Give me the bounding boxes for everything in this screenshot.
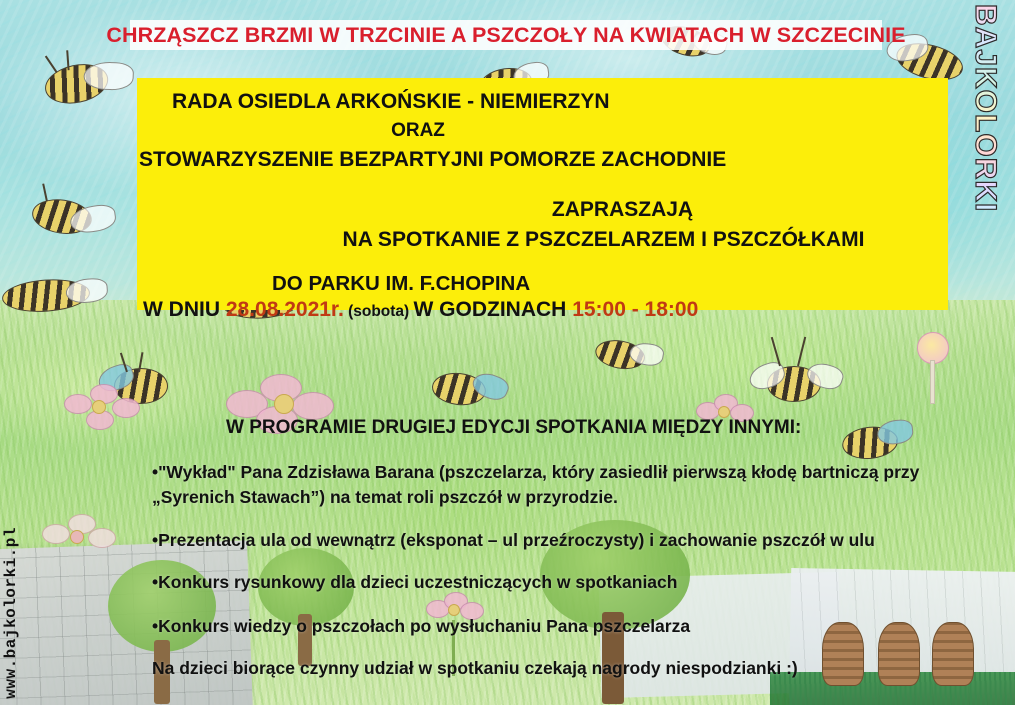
event-time: 15:00 - 18:00 [572, 298, 698, 321]
invitation-verb: ZAPRASZAJĄ [137, 198, 948, 222]
program-list-item: •"Wykład" Pana Zdzisława Barana (pszczel… [152, 460, 942, 510]
program-list-item: •Konkurs rysunkowy dla dzieci uczestnicz… [152, 570, 942, 595]
poster-canvas: CHRZĄSZCZ BRZMI W TRZCINIE A PSZCZOŁY NA… [0, 0, 1015, 705]
organizer-primary: RADA OSIEDLA ARKOŃSKIE - NIEMIERZYN [172, 90, 610, 114]
organizer-conjunction: ORAZ [137, 120, 699, 142]
brand-logo-bajkolorki: BAJKOLORKI [957, 4, 1013, 194]
program-list-item: •Prezentacja ula od wewnątrz (eksponat –… [152, 528, 942, 553]
program-heading: W PROGRAMIE DRUGIEJ EDYCJI SPOTKANIA MIĘ… [226, 417, 801, 439]
program-closing-note: Na dzieci biorące czynny udział w spotka… [152, 656, 942, 681]
event-weekday: (sobota) [344, 303, 414, 320]
brand-website-url: www.bajkolorki.pl [2, 527, 20, 699]
poster-title: CHRZĄSZCZ BRZMI W TRZCINIE A PSZCZOŁY NA… [130, 19, 882, 51]
event-date: 28.08.2021r. [226, 298, 344, 321]
invitation-subject: NA SPOTKANIE Z PSZCZELARZEM I PSZCZÓŁKAM… [137, 228, 948, 252]
event-location: DO PARKU IM. F.CHOPINA [272, 272, 530, 296]
date-prefix-label: W DNIU [143, 298, 226, 321]
program-list-item: •Konkurs wiedzy o pszczołach po wysłucha… [152, 614, 942, 639]
time-prefix-label: W GODZINACH [414, 298, 573, 321]
event-datetime-line: W DNIU 28.08.2021r. (sobota) W GODZINACH… [143, 298, 698, 322]
organizer-secondary: STOWARZYSZENIE BEZPARTYJNI POMORZE ZACHO… [139, 148, 726, 172]
brand-logo-text: BAJKOLORKI [968, 4, 1002, 212]
invitation-box: RADA OSIEDLA ARKOŃSKIE - NIEMIERZYN ORAZ… [137, 78, 948, 310]
